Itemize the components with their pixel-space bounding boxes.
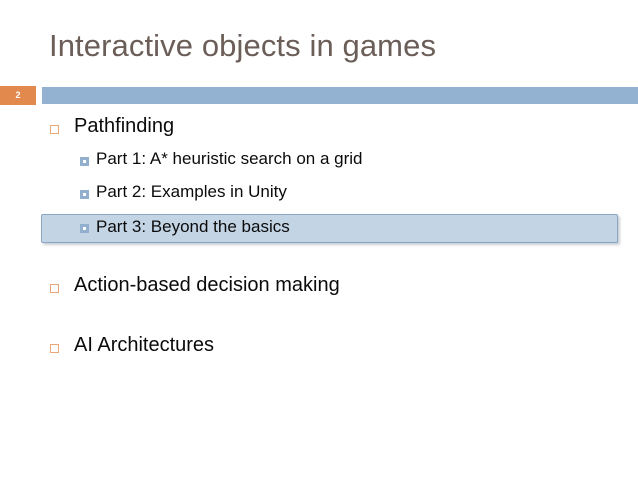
title-divider-bar (42, 87, 638, 104)
list-item-label: AI Architectures (74, 331, 214, 359)
page-title: Interactive objects in games (49, 26, 609, 66)
slide-number-label: 2 (15, 91, 20, 100)
list-item-label: Part 2: Examples in Unity (96, 179, 287, 204)
bullet-square-icon (80, 190, 89, 199)
list-item-label: Action-based decision making (74, 271, 340, 299)
bullet-square-icon (80, 157, 89, 166)
bullet-square-icon (50, 344, 59, 353)
list-item[interactable]: Pathfinding (0, 112, 638, 146)
bullet-square-icon (50, 284, 59, 293)
list-item[interactable]: Action-based decision making (0, 271, 638, 305)
list-item-label: Pathfinding (74, 112, 174, 140)
list-item[interactable]: Part 1: A* heuristic search on a grid (0, 146, 638, 179)
bullet-square-icon (50, 125, 59, 134)
list-item[interactable]: Part 2: Examples in Unity (0, 179, 638, 212)
bullet-list: Pathfinding Part 1: A* heuristic search … (0, 112, 638, 365)
slide-number-badge: 2 (0, 86, 36, 105)
list-item-highlighted[interactable]: Part 3: Beyond the basics (0, 212, 638, 245)
list-item[interactable]: AI Architectures (0, 331, 638, 365)
list-item-label: Part 3: Beyond the basics (96, 214, 290, 239)
list-spacer (0, 245, 638, 271)
slide-canvas: Interactive objects in games 2 Pathfindi… (0, 0, 638, 478)
list-spacer (0, 305, 638, 331)
bullet-square-icon (80, 224, 89, 233)
list-item-label: Part 1: A* heuristic search on a grid (96, 146, 362, 171)
